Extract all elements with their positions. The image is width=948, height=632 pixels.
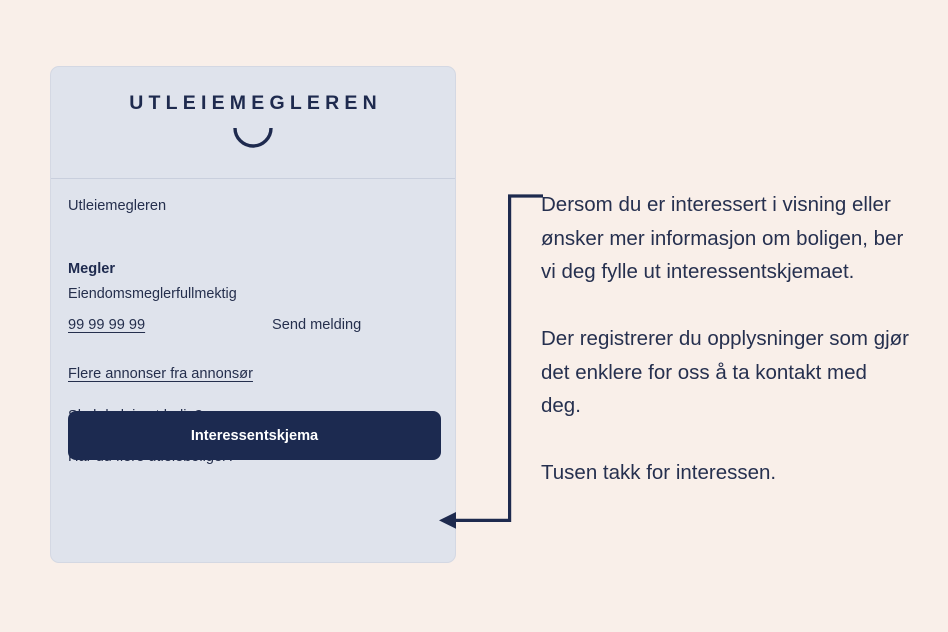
contact-row: 99 99 99 99 Send melding [68, 317, 455, 333]
annotation-paragraph-2: Der registrerer du opplysninger som gjør… [541, 322, 911, 423]
more-ads-from-advertiser-link[interactable]: Flere annonser fra annonsør [68, 366, 253, 382]
interest-form-button[interactable]: Interessentskjema [68, 411, 441, 460]
send-message-link[interactable]: Send melding [272, 317, 361, 333]
agent-contact-card: UTLEIEMEGLEREN Utleiemegleren Megler Eie… [50, 66, 456, 563]
agent-role-label: Megler [68, 260, 455, 279]
annotation-paragraph-1: Dersom du er interessert i visning eller… [541, 188, 911, 289]
phone-number-link[interactable]: 99 99 99 99 [68, 317, 272, 333]
smile-arc-icon [232, 127, 274, 149]
brand-wordmark: UTLEIEMEGLEREN [124, 94, 382, 114]
agent-job-title: Eiendomsmeglerfullmektig [68, 285, 455, 304]
card-header: UTLEIEMEGLEREN [51, 67, 455, 179]
annotation-text-block: Dersom du er interessert i visning eller… [541, 188, 911, 490]
annotation-paragraph-3: Tusen takk for interessen. [541, 456, 911, 490]
card-body: Utleiemegleren Megler Eiendomsmeglerfull… [51, 179, 455, 563]
company-name: Utleiemegleren [68, 197, 455, 216]
